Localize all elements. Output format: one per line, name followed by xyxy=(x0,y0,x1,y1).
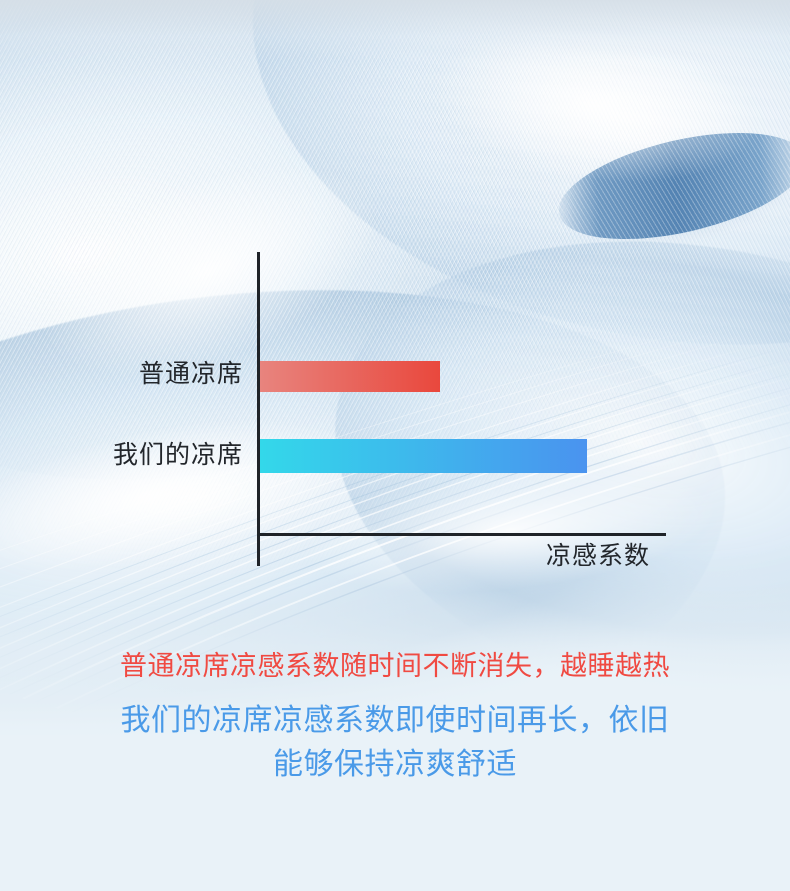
chart-x-axis-title: 凉感系数 xyxy=(546,544,650,569)
caption-our-mat-benefit-line2: 能够保持凉爽舒适 xyxy=(0,750,790,780)
caption-ordinary-mat-warning: 普通凉席凉感系数随时间不断消失，越睡越热 xyxy=(0,653,790,680)
bar-label-ordinary-mat: 普通凉席 xyxy=(0,362,243,387)
caption-our-mat-benefit-line1: 我们的凉席凉感系数即使时间再长，依旧 xyxy=(0,706,790,736)
bar-our-mat xyxy=(260,439,587,473)
product-detail-page: 普通凉席 我们的凉席 凉感系数 普通凉席凉感系数随时间不断消失，越睡越热 我们的… xyxy=(0,0,790,891)
chart-y-axis xyxy=(257,252,260,566)
bar-label-our-mat: 我们的凉席 xyxy=(0,443,243,468)
bar-ordinary-mat xyxy=(260,361,440,392)
chart-x-axis xyxy=(257,533,666,536)
